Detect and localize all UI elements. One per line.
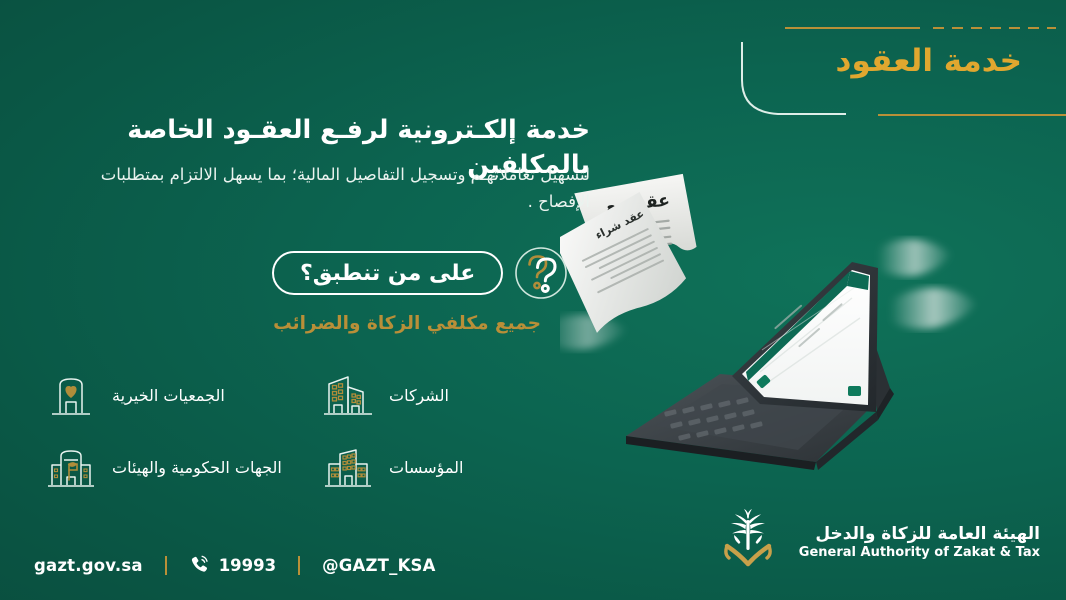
category-institutions[interactable]: المؤسسات	[321, 434, 584, 500]
category-label: المؤسسات	[389, 458, 463, 477]
hero-illustration: عقد بيع عقد شراء	[560, 150, 1066, 480]
category-charity[interactable]: الجمعيات الخيرية	[44, 362, 307, 428]
category-label: الجمعيات الخيرية	[112, 386, 225, 405]
frame-gold-dashed-line	[933, 27, 1056, 29]
organization-logo-lockup: الهيئة العامة للزكاة والدخل General Auth…	[711, 506, 1040, 580]
who-applies-answer: جميع مكلفي الزكاة والضرائب	[272, 313, 542, 334]
categories-grid: الشركات الجمعيات الخيرية	[44, 362, 584, 500]
page-title: خدمة العقود	[836, 43, 1022, 79]
who-applies-row: على من تنطبق؟	[272, 244, 562, 302]
frame-gold-bottom-line	[878, 114, 1066, 116]
subheadline-text: لتسهيل تعاملاتهـم وتسجيل التفاصيل المالي…	[58, 162, 590, 215]
footer-separator	[298, 556, 300, 575]
footer-contact-bar: gazt.gov.sa 19993 @GAZT_KSA	[34, 554, 436, 576]
who-applies-pill[interactable]: على من تنطبق؟	[272, 251, 503, 295]
phone-contact[interactable]: 19993	[189, 554, 276, 576]
charity-heart-building-icon	[44, 368, 98, 422]
social-handle[interactable]: @GAZT_KSA	[322, 556, 436, 575]
category-label: الجهات الحكومية والهيئات	[112, 458, 282, 477]
companies-buildings-icon	[321, 368, 375, 422]
category-label: الشركات	[389, 386, 449, 405]
category-companies[interactable]: الشركات	[321, 362, 584, 428]
poster-canvas: خدمة العقود	[0, 0, 1066, 600]
organization-name-en: General Authority of Zakat & Tax	[799, 545, 1040, 562]
website-link[interactable]: gazt.gov.sa	[34, 556, 143, 575]
frame-white-corner-curve	[736, 42, 846, 118]
organization-name-ar: الهيئة العامة للزكاة والدخل	[799, 524, 1040, 545]
ringing-phone-icon	[189, 554, 211, 576]
footer-separator	[165, 556, 167, 575]
phone-number: 19993	[219, 556, 276, 575]
category-government[interactable]: الجهات الحكومية والهيئات	[44, 434, 307, 500]
question-mark-icon	[513, 245, 569, 301]
frame-gold-solid-line	[785, 27, 920, 29]
government-flag-building-icon	[44, 440, 98, 494]
institutions-building-icon	[321, 440, 375, 494]
tablet-with-keyboard-icon: عقد بيع عقد شراء	[560, 150, 1066, 480]
palm-tree-and-crossed-swords-icon	[711, 506, 785, 580]
organization-names: الهيئة العامة للزكاة والدخل General Auth…	[799, 524, 1040, 562]
